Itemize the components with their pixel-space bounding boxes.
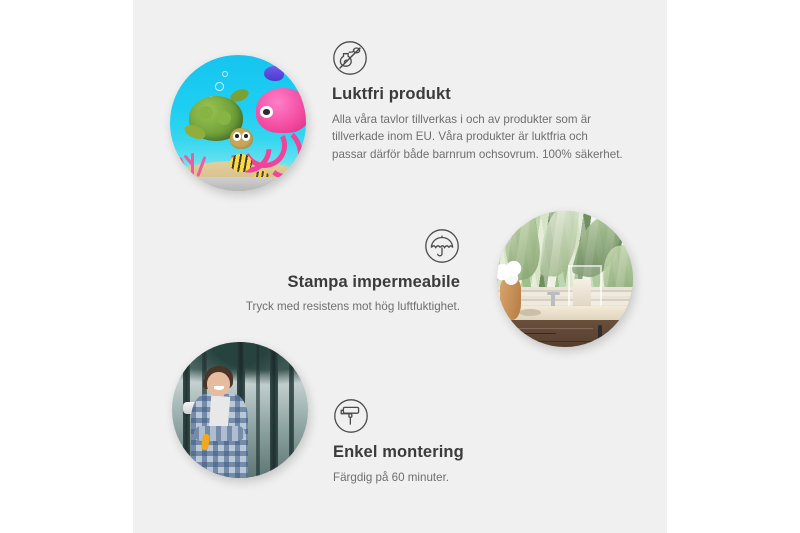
turtle-head <box>230 128 253 148</box>
feature-enkel-montering: Enkel montering Färgdig på 60 minuter. <box>333 398 613 486</box>
frame-edge <box>178 177 298 191</box>
no-fragrance-icon <box>332 40 624 76</box>
feature-body: Alla våra tavlor tillverkas i och av pro… <box>332 111 624 164</box>
white-flowers <box>497 257 527 287</box>
bathroom-botanical-photo <box>497 211 633 347</box>
woman-face <box>207 372 230 396</box>
bubble-decor <box>215 82 224 91</box>
feature-title: Enkel montering <box>333 442 613 463</box>
tree-trunk <box>270 342 278 478</box>
feature-stampa-impermeabile: Stampa impermeabile Tryck med resistens … <box>216 228 460 315</box>
tree-trunk <box>256 342 260 478</box>
paint-roller-icon <box>333 398 613 434</box>
soap-dish <box>519 309 541 316</box>
umbrella-icon <box>424 228 460 264</box>
woman-with-roller-photo <box>172 342 308 478</box>
feature-title: Stampa impermeabile <box>216 272 460 293</box>
feature-body: Färgdig på 60 minuter. <box>333 469 613 487</box>
blue-fish <box>264 66 284 81</box>
underwater-cartoon-photo <box>170 55 306 191</box>
product-feature-infographic: Luktfri produkt Alla våra tavlor tillver… <box>0 0 800 533</box>
tree-trunk <box>289 342 294 478</box>
bubble-decor <box>222 71 228 77</box>
vanity-cabinet <box>505 320 633 347</box>
woman-smile <box>214 386 224 390</box>
feature-title: Luktfri produkt <box>332 84 624 105</box>
feature-luktfri-produkt: Luktfri produkt Alla våra tavlor tillver… <box>332 40 624 163</box>
striped-fish <box>230 154 252 172</box>
coral <box>175 145 213 180</box>
feature-body: Tryck med resistens mot hög luftfuktighe… <box>216 298 460 316</box>
